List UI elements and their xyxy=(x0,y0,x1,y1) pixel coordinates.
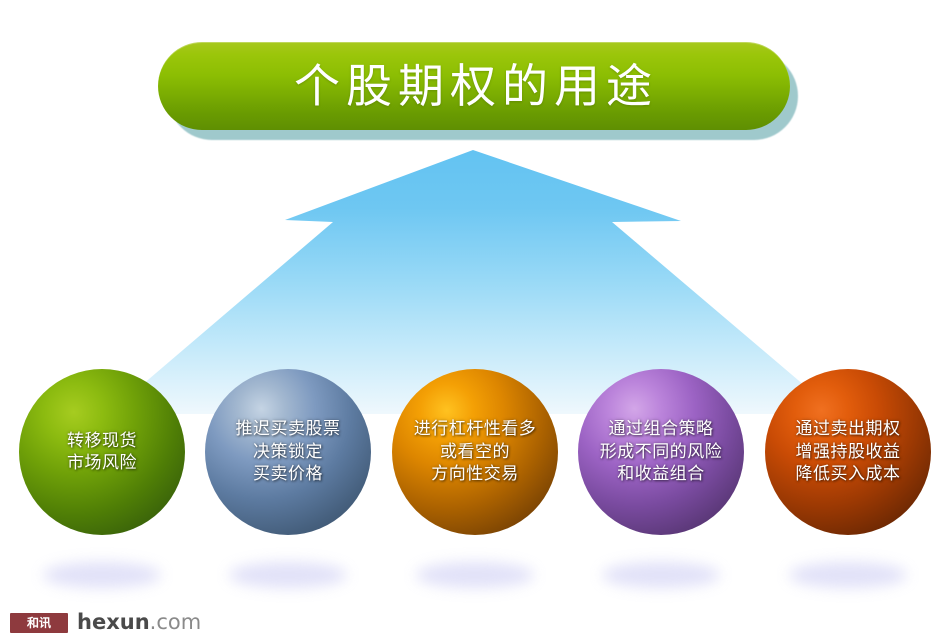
node-line: 通过组合策略 xyxy=(600,418,723,440)
hexun-logo-icon: 和讯 xyxy=(10,613,68,633)
node-label-4: 通过组合策略 形成不同的风险 和收益组合 xyxy=(600,418,723,485)
node-line: 或看空的 xyxy=(414,441,537,463)
node-circle-2[interactable]: 推迟买卖股票 决策锁定 买卖价格 xyxy=(205,369,371,535)
node-circle-4[interactable]: 通过组合策略 形成不同的风险 和收益组合 xyxy=(578,369,744,535)
node-line: 方向性交易 xyxy=(414,463,537,485)
node-line: 转移现货 xyxy=(67,430,137,452)
hexun-logo-text: 和讯 xyxy=(27,617,51,629)
node-line: 和收益组合 xyxy=(600,463,723,485)
node-line: 决策锁定 xyxy=(236,441,341,463)
node-circle-5[interactable]: 通过卖出期权 增强持股收益 降低买入成本 xyxy=(765,369,931,535)
node-shadow xyxy=(229,562,347,588)
node-shadow xyxy=(43,562,161,588)
node-line: 形成不同的风险 xyxy=(600,441,723,463)
node-label-5: 通过卖出期权 增强持股收益 降低买入成本 xyxy=(796,418,901,485)
node-shadow xyxy=(602,562,720,588)
node-label-2: 推迟买卖股票 决策锁定 买卖价格 xyxy=(236,418,341,485)
node-circle-1[interactable]: 转移现货 市场风险 xyxy=(19,369,185,535)
node-circle-3[interactable]: 进行杠杆性看多 或看空的 方向性交易 xyxy=(392,369,558,535)
node-line: 通过卖出期权 xyxy=(796,418,901,440)
node-shadow xyxy=(789,562,907,588)
page-title: 个股期权的用途 xyxy=(290,63,658,109)
footer-brand: hexun.com xyxy=(77,612,201,633)
node-line: 增强持股收益 xyxy=(796,441,901,463)
node-line: 进行杠杆性看多 xyxy=(414,418,537,440)
footer-watermark: 和讯 hexun.com xyxy=(10,612,201,633)
node-label-1: 转移现货 市场风险 xyxy=(67,430,137,475)
footer-brand-name: hexun xyxy=(77,610,150,634)
node-label-3: 进行杠杆性看多 或看空的 方向性交易 xyxy=(414,418,537,485)
slide-canvas: 个股期权的用途 转移现货 市场风险 xyxy=(0,0,950,643)
node-shadow xyxy=(416,562,534,588)
node-line: 买卖价格 xyxy=(236,463,341,485)
node-line: 降低买入成本 xyxy=(796,463,901,485)
title-pill: 个股期权的用途 xyxy=(158,42,790,130)
node-line: 推迟买卖股票 xyxy=(236,418,341,440)
node-line: 市场风险 xyxy=(67,452,137,474)
footer-brand-tld: .com xyxy=(150,610,202,634)
